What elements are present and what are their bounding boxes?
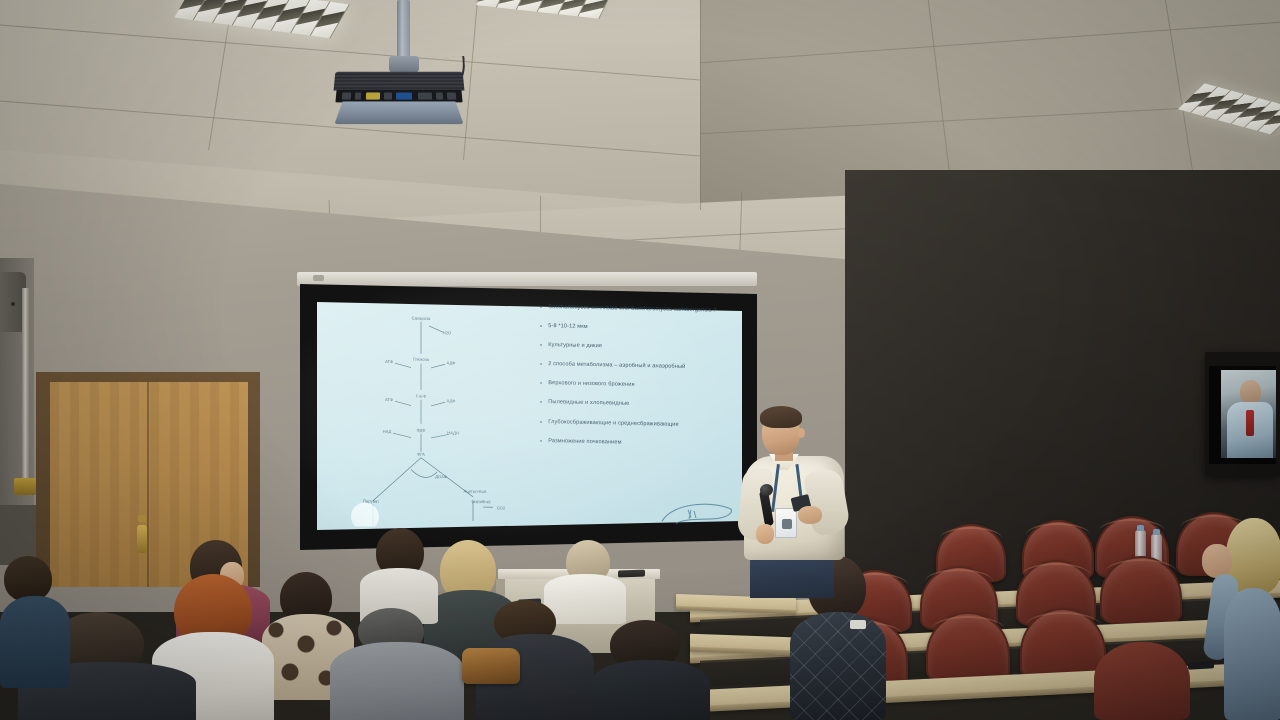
presenter-trousers (750, 554, 834, 598)
lecture-hall-scene: Сахароза Н2О Глюкоза АТФ АДФ Г-6-Ф АТФ А… (0, 0, 1280, 720)
attendee-back-of-head-right (590, 620, 710, 720)
projector-top-vents (334, 72, 465, 91)
attendee-front-right-lower (1078, 630, 1198, 720)
slide-bullet-text: Размножение почкованием (548, 438, 740, 450)
slide-bullet-text: Верхового и низового брожения (548, 380, 740, 392)
bullet-marker-icon: • (540, 438, 542, 446)
presenter-ear (798, 428, 805, 438)
svg-text:ДОАФ: ДОАФ (435, 474, 447, 479)
slide-bullet-text: 2 способа метаболизма – аэробный и анаэр… (548, 361, 740, 373)
presenter-name-badge (775, 508, 797, 538)
presenter-left-hand (756, 524, 774, 544)
tv-picture (1209, 366, 1276, 464)
slide-bullet-item: • 2 способа метаболизма – аэробный и ана… (540, 361, 740, 373)
slide-bullet-item: • Глубокосбраживающие и среднесбраживающ… (540, 418, 740, 430)
screen-roller-housing (297, 272, 757, 286)
svg-text:НАД: НАД (383, 429, 392, 434)
slide-bullet-list: • Saccharomyces cerevisiae или Saccharom… (540, 304, 740, 461)
svg-text:АТФ: АТФ (385, 397, 393, 402)
ceiling-projector[interactable] (330, 72, 467, 122)
slide-bullet-text: 5-8 *10-12 мкм (548, 323, 740, 335)
svg-text:Г-6-Ф: Г-6-Ф (416, 394, 427, 399)
slide-bullet-text: Пылевидные и хлопьевидные (548, 400, 740, 412)
bullet-marker-icon: • (540, 361, 542, 369)
projector-mount-pole (397, 0, 410, 62)
projector-body (334, 101, 463, 124)
presenter-hair (760, 406, 802, 428)
bullet-marker-icon: • (540, 380, 542, 388)
attendee-gray-tshirt (330, 608, 464, 720)
slide-metabolism-diagram: Сахароза Н2О Глюкоза АТФ АДФ Г-6-Ф АТФ А… (333, 304, 533, 530)
door-center-seam (147, 382, 149, 587)
tv-person-tie (1246, 410, 1254, 436)
slide-bullet-item: • Культурные и дикие (540, 342, 740, 354)
door-lock-icon (138, 515, 146, 522)
projector-port-panel (335, 90, 462, 103)
slide-bullet-item: • 5-8 *10-12 мкм (540, 323, 740, 335)
slide-bullet-text: Культурные и дикие (548, 342, 740, 354)
leather-bag (462, 648, 520, 684)
svg-text:Н2О: Н2О (443, 330, 452, 335)
wall-tv-monitor[interactable] (1205, 352, 1280, 476)
svg-text:ФГА: ФГА (417, 452, 425, 457)
svg-text:АТФ: АТФ (385, 359, 393, 364)
slide-bullet-text: Глубокосбраживающие и среднесбраживающие (548, 419, 740, 431)
slide-bullet-item: • Верхового и низового брожения (540, 380, 740, 392)
bullet-marker-icon: • (540, 304, 542, 312)
bullet-marker-icon: • (540, 323, 542, 331)
svg-text:ФДФ: ФДФ (417, 428, 426, 433)
tv-screen (1209, 366, 1276, 464)
brass-wall-fixture (14, 478, 36, 495)
attendee-far-left (0, 556, 70, 676)
bullet-marker-icon: • (540, 342, 542, 350)
svg-text:НАДН: НАДН (447, 430, 459, 435)
tv-letterbox-left (1209, 366, 1221, 464)
slide-bullet-item: • Пылевидные и хлопьевидные (540, 399, 740, 411)
svg-text:СО2: СО2 (497, 505, 506, 510)
svg-text:Глюкоза: Глюкоза (413, 357, 430, 362)
tv-person-head (1240, 380, 1261, 404)
svg-text:Ацетил-КоА: Ацетил-КоА (464, 489, 487, 494)
slide-bullet-item: • Размножение почкованием (540, 438, 740, 450)
svg-text:(аэробно): (аэробно) (472, 499, 492, 504)
chair-front-right-2[interactable] (926, 612, 1010, 682)
presenter-right-hand (798, 506, 822, 524)
svg-text:АДФ: АДФ (447, 398, 456, 403)
attendee-blonde-denim-right (1196, 518, 1280, 720)
svg-text:Сахароза: Сахароза (412, 316, 431, 321)
chair-mid-2[interactable] (1100, 556, 1182, 624)
svg-text:АДФ: АДФ (447, 360, 456, 365)
tv-letterbox-bottom (1209, 458, 1276, 464)
door-handle-icon[interactable] (137, 525, 147, 553)
bullet-marker-icon: • (540, 399, 542, 407)
attendee-white-shirt-center (544, 540, 626, 602)
bullet-marker-icon: • (540, 418, 542, 426)
presenter (742, 404, 848, 594)
attendee-front-left-dark-hair (360, 528, 438, 598)
wall-conduit (22, 288, 29, 478)
